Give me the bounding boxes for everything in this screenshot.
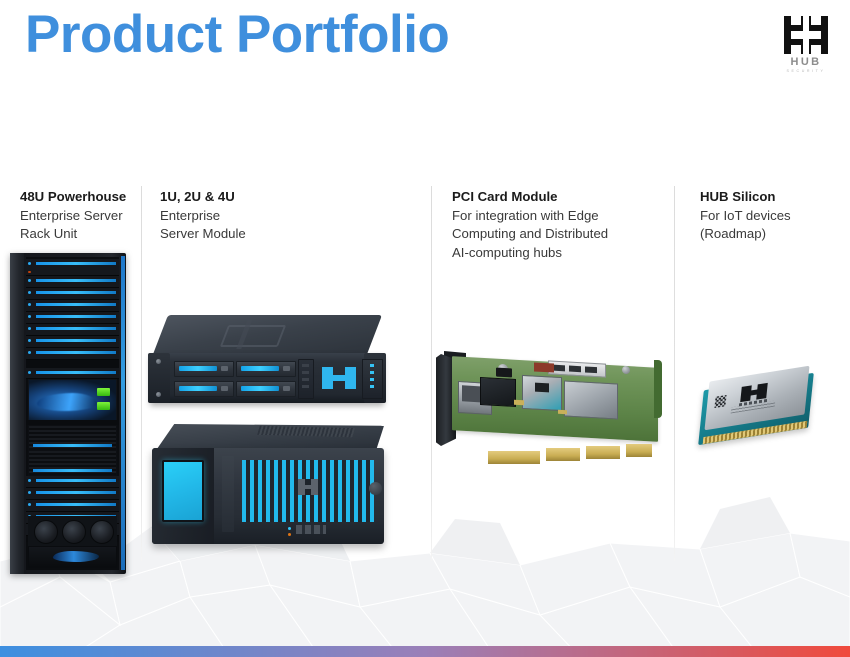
caption-line: Enterprise Server bbox=[20, 207, 140, 226]
caption-hub-silicon: HUB Silicon For IoT devices (Roadmap) bbox=[700, 188, 845, 244]
server-rack-48u-photo bbox=[10, 253, 126, 574]
caption-title: PCI Card Module bbox=[452, 188, 667, 207]
column-divider-1 bbox=[141, 186, 142, 561]
hub-security-logo: HUB SECURITY bbox=[778, 16, 834, 74]
logo-wordmark: HUB bbox=[778, 56, 834, 68]
pci-card-photo bbox=[436, 352, 662, 452]
caption-line: (Roadmap) bbox=[700, 225, 845, 244]
page-title: Product Portfolio bbox=[25, 5, 449, 66]
caption-line: Enterprise bbox=[160, 207, 340, 226]
tower-server-photo bbox=[146, 424, 394, 550]
caption-rack-48u: 48U Powerhouse Enterprise Server Rack Un… bbox=[20, 188, 140, 244]
rackmount-server-photo bbox=[146, 315, 388, 410]
low-poly-background bbox=[0, 457, 850, 657]
caption-title: HUB Silicon bbox=[700, 188, 845, 207]
logo-tagline: SECURITY bbox=[778, 69, 834, 73]
caption-server-module: 1U, 2U & 4U Enterprise Server Module bbox=[160, 188, 340, 244]
slide-canvas: Product Portfolio HUB SECURITY 48U Power… bbox=[0, 0, 850, 657]
column-divider-2 bbox=[431, 186, 432, 561]
caption-title: 48U Powerhouse bbox=[20, 188, 140, 207]
hub-h-mark-icon bbox=[322, 367, 356, 389]
silicon-chip-photo bbox=[697, 368, 819, 444]
caption-line: Computing and Distributed bbox=[452, 225, 667, 244]
caption-line: For IoT devices bbox=[700, 207, 845, 226]
hub-h-mark-icon bbox=[784, 16, 828, 54]
caption-line: AI-computing hubs bbox=[452, 244, 667, 263]
column-divider-3 bbox=[674, 186, 675, 561]
footer-gradient-bar bbox=[0, 646, 850, 657]
hub-h-mark-icon bbox=[298, 479, 318, 495]
caption-line: For integration with Edge bbox=[452, 207, 667, 226]
caption-title: 1U, 2U & 4U bbox=[160, 188, 340, 207]
caption-line: Rack Unit bbox=[20, 225, 140, 244]
caption-line: Server Module bbox=[160, 225, 340, 244]
caption-pci-card: PCI Card Module For integration with Edg… bbox=[452, 188, 667, 263]
